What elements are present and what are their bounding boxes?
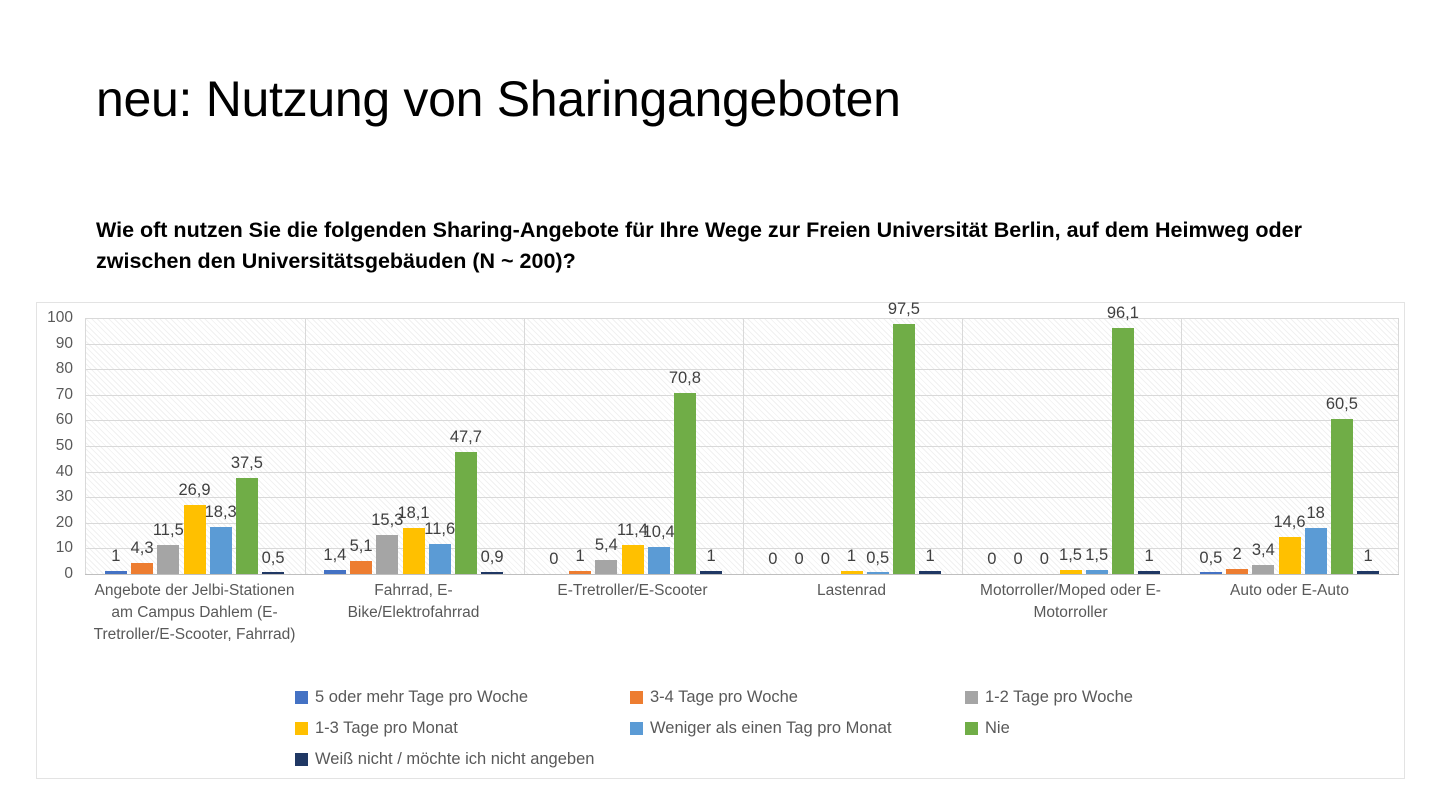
chart-bar <box>595 560 617 574</box>
bar-value-label: 1 <box>1364 547 1373 566</box>
bar-value-label: 0 <box>1040 550 1049 569</box>
y-axis-tick-label: 80 <box>39 360 73 378</box>
bar-value-label: 1 <box>111 547 120 566</box>
category-separator <box>524 318 525 574</box>
bar-value-label: 70,8 <box>669 369 701 388</box>
chart-legend: 5 oder mehr Tage pro Woche3-4 Tage pro W… <box>85 688 1399 781</box>
chart-bar <box>700 571 722 574</box>
bar-value-label: 0 <box>987 550 996 569</box>
legend-row: Weiß nicht / möchte ich nicht angeben <box>85 750 1399 781</box>
gridline <box>86 344 1398 345</box>
chart-bar <box>1357 571 1379 574</box>
chart-bar <box>1279 537 1301 574</box>
legend-row: 5 oder mehr Tage pro Woche3-4 Tage pro W… <box>85 688 1399 719</box>
chart-bar <box>105 571 127 574</box>
bar-value-label: 96,1 <box>1107 304 1139 323</box>
legend-item-label: 1-3 Tage pro Monat <box>315 719 458 738</box>
gridline <box>86 472 1398 473</box>
legend-item[interactable]: Weiß nicht / möchte ich nicht angeben <box>295 750 594 769</box>
category-axis-label: E-Tretroller/E-Scooter <box>528 580 738 602</box>
y-axis-tick-label: 30 <box>39 488 73 506</box>
chart-bar <box>1331 419 1353 574</box>
chart-bar <box>376 535 398 574</box>
bar-value-label: 1 <box>847 547 856 566</box>
y-axis-tick-label: 0 <box>39 565 73 583</box>
category-axis-label: Lastenrad <box>752 580 952 602</box>
legend-item[interactable]: 1-3 Tage pro Monat <box>295 719 458 738</box>
chart-bar <box>867 572 889 574</box>
legend-color-swatch-icon <box>965 691 978 704</box>
category-separator <box>962 318 963 574</box>
bar-value-label: 5,1 <box>350 537 373 556</box>
chart-bar <box>1252 565 1274 574</box>
legend-item[interactable]: 5 oder mehr Tage pro Woche <box>295 688 528 707</box>
legend-color-swatch-icon <box>295 691 308 704</box>
chart-baseline <box>85 574 1399 575</box>
chart-bar <box>569 571 591 574</box>
y-axis-tick-label: 60 <box>39 411 73 429</box>
y-axis-tick-label: 90 <box>39 335 73 353</box>
y-axis-tick-label: 70 <box>39 386 73 404</box>
bar-value-label: 2 <box>1233 545 1242 564</box>
chart-bar <box>1305 528 1327 574</box>
chart-bar <box>893 324 915 574</box>
legend-color-swatch-icon <box>295 753 308 766</box>
bar-value-label: 0 <box>795 550 804 569</box>
y-axis-tick-label: 100 <box>39 309 73 327</box>
bar-value-label: 1 <box>1145 547 1154 566</box>
bar-value-label: 0 <box>1014 550 1023 569</box>
chart-bar <box>157 545 179 574</box>
legend-item-label: Nie <box>985 719 1010 738</box>
legend-item[interactable]: 3-4 Tage pro Woche <box>630 688 798 707</box>
bar-value-label: 11,6 <box>424 520 455 539</box>
legend-color-swatch-icon <box>630 691 643 704</box>
gridline <box>86 369 1398 370</box>
legend-row: 1-3 Tage pro MonatWeniger als einen Tag … <box>85 719 1399 750</box>
chart-bar <box>236 478 258 574</box>
y-axis-tick-label: 10 <box>39 539 73 557</box>
gridline <box>86 523 1398 524</box>
chart-bar <box>184 505 206 574</box>
legend-item-label: 3-4 Tage pro Woche <box>650 688 798 707</box>
gridline <box>86 497 1398 498</box>
bar-value-label: 14,6 <box>1273 513 1305 532</box>
chart-bar <box>429 544 451 574</box>
chart-bar <box>622 545 644 574</box>
chart-bar <box>403 528 425 574</box>
legend-item-label: Weniger als einen Tag pro Monat <box>650 719 892 738</box>
bar-value-label: 0,5 <box>866 549 889 568</box>
chart-bar <box>1086 570 1108 574</box>
y-axis-tick-label: 40 <box>39 463 73 481</box>
chart-bar <box>1200 572 1222 574</box>
chart-bar <box>648 547 670 574</box>
category-axis-label: Angebote der Jelbi-Stationen am Campus D… <box>87 580 302 646</box>
category-separator <box>743 318 744 574</box>
gridline <box>86 446 1398 447</box>
bar-value-label: 3,4 <box>1252 541 1275 560</box>
bar-value-label: 1 <box>707 547 716 566</box>
bar-value-label: 11,5 <box>153 521 184 540</box>
chart-bar <box>350 561 372 574</box>
category-axis-label: Auto oder E-Auto <box>1190 580 1390 602</box>
bar-value-label: 0,9 <box>481 548 504 567</box>
gridline <box>86 420 1398 421</box>
gridline <box>86 318 1398 319</box>
legend-item-label: 5 oder mehr Tage pro Woche <box>315 688 528 707</box>
chart-bar <box>1060 570 1082 574</box>
chart-bar <box>210 527 232 574</box>
chart-container: 0102030405060708090100 14,311,526,918,33… <box>36 302 1405 779</box>
bar-value-label: 10,4 <box>643 523 675 542</box>
legend-item-label: 1-2 Tage pro Woche <box>985 688 1133 707</box>
chart-bar <box>1138 571 1160 574</box>
category-separator <box>305 318 306 574</box>
chart-question-text: Wie oft nutzen Sie die folgenden Sharing… <box>96 215 1331 277</box>
bar-value-label: 1 <box>926 547 935 566</box>
y-axis-tick-label: 50 <box>39 437 73 455</box>
bar-value-label: 26,9 <box>178 481 210 500</box>
bar-value-label: 1,5 <box>1085 546 1108 565</box>
bar-value-label: 1 <box>576 547 585 566</box>
legend-item[interactable]: Weniger als einen Tag pro Monat <box>630 719 892 738</box>
chart-bar <box>674 393 696 574</box>
chart-bar <box>841 571 863 574</box>
legend-color-swatch-icon <box>295 722 308 735</box>
y-axis-tick-label: 20 <box>39 514 73 532</box>
bar-value-label: 47,7 <box>450 428 482 447</box>
chart-bar <box>324 570 346 574</box>
legend-item-label: Weiß nicht / möchte ich nicht angeben <box>315 750 594 769</box>
legend-color-swatch-icon <box>965 722 978 735</box>
chart-bar <box>919 571 941 574</box>
bar-value-label: 0 <box>549 550 558 569</box>
chart-bar <box>455 452 477 574</box>
category-separator <box>1181 318 1182 574</box>
bar-value-label: 0,5 <box>262 549 285 568</box>
bar-value-label: 60,5 <box>1326 395 1358 414</box>
legend-color-swatch-icon <box>630 722 643 735</box>
bar-value-label: 1,4 <box>323 546 346 565</box>
bar-value-label: 1,5 <box>1059 546 1082 565</box>
bar-value-label: 18,3 <box>205 503 237 522</box>
bar-value-label: 4,3 <box>131 539 154 558</box>
legend-item[interactable]: Nie <box>965 719 1010 738</box>
chart-plot-area <box>85 318 1399 574</box>
category-axis-label: Motorroller/Moped oder E-Motorroller <box>963 580 1178 624</box>
bar-value-label: 97,5 <box>888 300 920 319</box>
bar-value-label: 0 <box>768 550 777 569</box>
category-axis-label: Fahrrad, E-Bike/Elektrofahrrad <box>326 580 501 624</box>
page-title: neu: Nutzung von Sharingangeboten <box>96 72 1346 127</box>
bar-value-label: 18 <box>1307 504 1325 523</box>
chart-bar <box>481 572 503 574</box>
chart-bar <box>1226 569 1248 574</box>
gridline <box>86 395 1398 396</box>
bar-value-label: 0,5 <box>1199 549 1222 568</box>
chart-bar <box>1112 328 1134 574</box>
bar-value-label: 0 <box>821 550 830 569</box>
bar-value-label: 5,4 <box>595 536 618 555</box>
chart-bar <box>262 572 284 574</box>
bar-value-label: 37,5 <box>231 454 263 473</box>
legend-item[interactable]: 1-2 Tage pro Woche <box>965 688 1133 707</box>
chart-bar <box>131 563 153 574</box>
